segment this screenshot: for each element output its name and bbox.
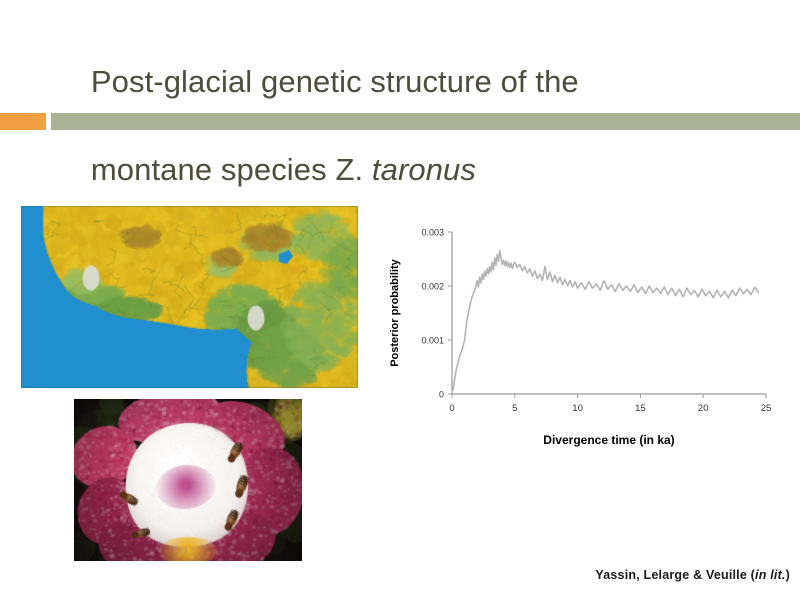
svg-text:0.003: 0.003 [421,228,444,238]
species-genus: Z. [335,152,363,187]
svg-text:25: 25 [761,403,772,414]
africa-map-image [21,206,358,388]
citation-authors: Yassin, Lelarge & Veuille [595,568,750,582]
citation: Yassin, Lelarge & Veuille (in lit.) [410,568,790,582]
species-epithet: taronus [363,152,476,187]
posterior-probability-chart-svg: 00.0010.0020.0030510152025Divergence tim… [384,218,784,450]
africa-map-figure [21,206,358,388]
svg-text:20: 20 [698,403,709,414]
page-title-line1: Post-glacial genetic structure of the [91,64,579,99]
svg-text:Posterior probability: Posterior probability [389,258,401,366]
svg-text:0: 0 [449,403,454,414]
title-accent-orange-bar [0,113,46,130]
citation-close-paren: ) [786,568,790,582]
svg-text:0: 0 [439,390,444,400]
flower-photo-figure [74,399,302,561]
svg-text:5: 5 [512,403,517,414]
flower-photo-image [74,399,302,561]
posterior-probability-chart: 00.0010.0020.0030510152025Divergence tim… [384,218,784,450]
svg-text:0.002: 0.002 [421,282,444,292]
svg-text:15: 15 [635,403,646,414]
title-block: Post-glacial genetic structure of the mo… [0,0,800,136]
title-accent-green-bar [51,113,800,130]
svg-text:10: 10 [572,403,583,414]
svg-text:0.001: 0.001 [421,336,444,346]
svg-text:Divergence time (in ka): Divergence time (in ka) [543,433,674,447]
citation-status: in lit. [755,568,786,582]
page-title-line2-prefix: montane species [91,152,336,187]
